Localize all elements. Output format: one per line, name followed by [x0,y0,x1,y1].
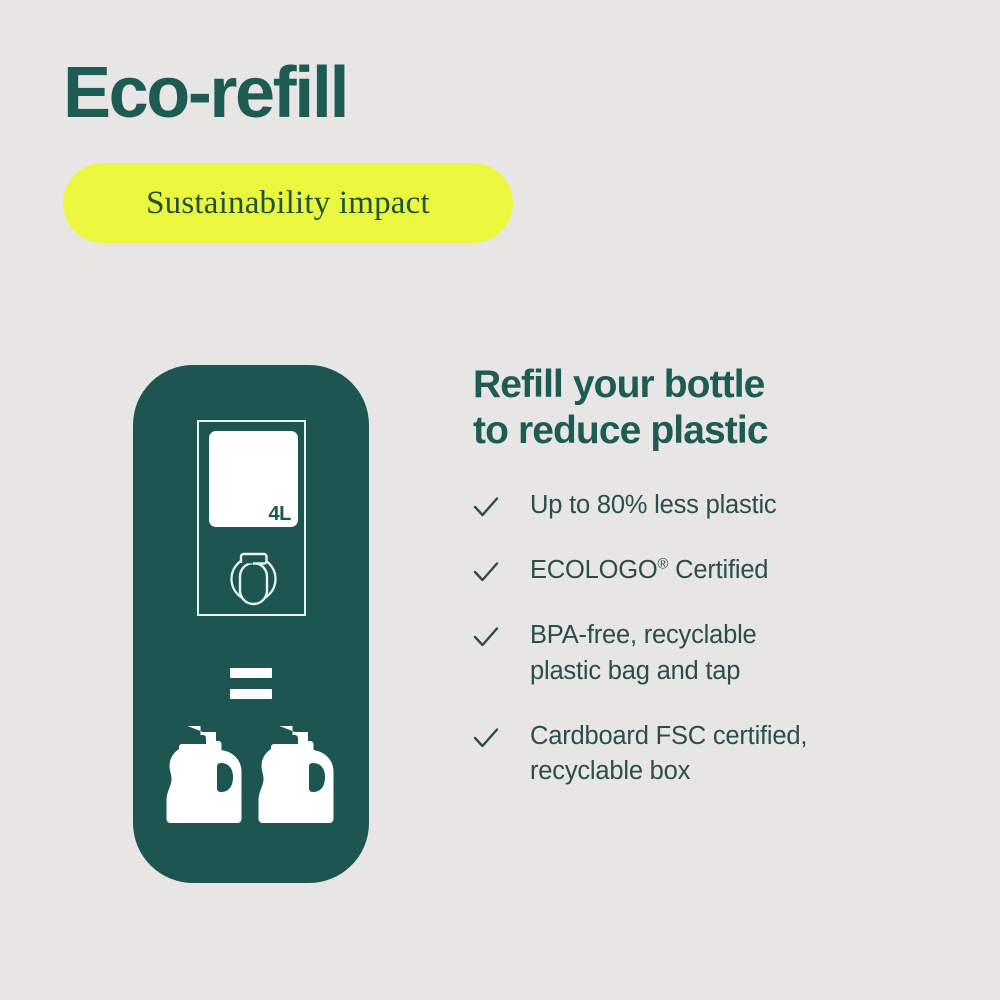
eco-refill-infographic: Eco-refill Sustainability impact 4L [0,0,1000,1000]
benefit-text: Cardboard FSC certified, recyclable box [530,719,807,789]
check-icon [473,494,499,520]
carton-volume-label: 4L [268,504,291,524]
carton-label: 4L [209,431,298,527]
list-item: ECOLOGO® Certified [473,553,943,588]
benefits-section: Refill your bottle to reduce plastic Up … [473,362,943,789]
equals-symbol [230,668,272,699]
check-icon [473,559,499,585]
page-title: Eco-refill [63,57,347,129]
status-badge: Sustainability impact [63,163,513,243]
benefit-text: Up to 80% less plastic [530,488,776,523]
benefit-text: ECOLOGO® Certified [530,553,768,588]
status-badge-label: Sustainability impact [146,185,430,222]
detergent-bottles-graphic [159,721,343,841]
list-item: Up to 80% less plastic [473,488,943,523]
registered-trademark-symbol: ® [658,557,669,573]
check-icon [473,624,499,650]
detergent-bottle-left [167,726,242,823]
detergent-bottle-right [259,726,334,823]
refill-carton-graphic: 4L [197,420,306,616]
benefit-text-suffix: Certified [668,556,768,584]
section-heading: Refill your bottle to reduce plastic [473,362,943,454]
benefit-list: Up to 80% less plastic ECOLOGO® Certifie… [473,488,943,789]
tap-icon [219,544,288,606]
benefit-text-main: ECOLOGO [530,556,658,584]
benefit-text: BPA-free, recyclable plastic bag and tap [530,618,757,688]
equals-bar-bottom [230,689,272,699]
product-illustration-card: 4L [133,365,369,883]
check-icon [473,725,499,751]
list-item: BPA-free, recyclable plastic bag and tap [473,618,943,688]
list-item: Cardboard FSC certified, recyclable box [473,719,943,789]
equals-bar-top [230,668,272,678]
